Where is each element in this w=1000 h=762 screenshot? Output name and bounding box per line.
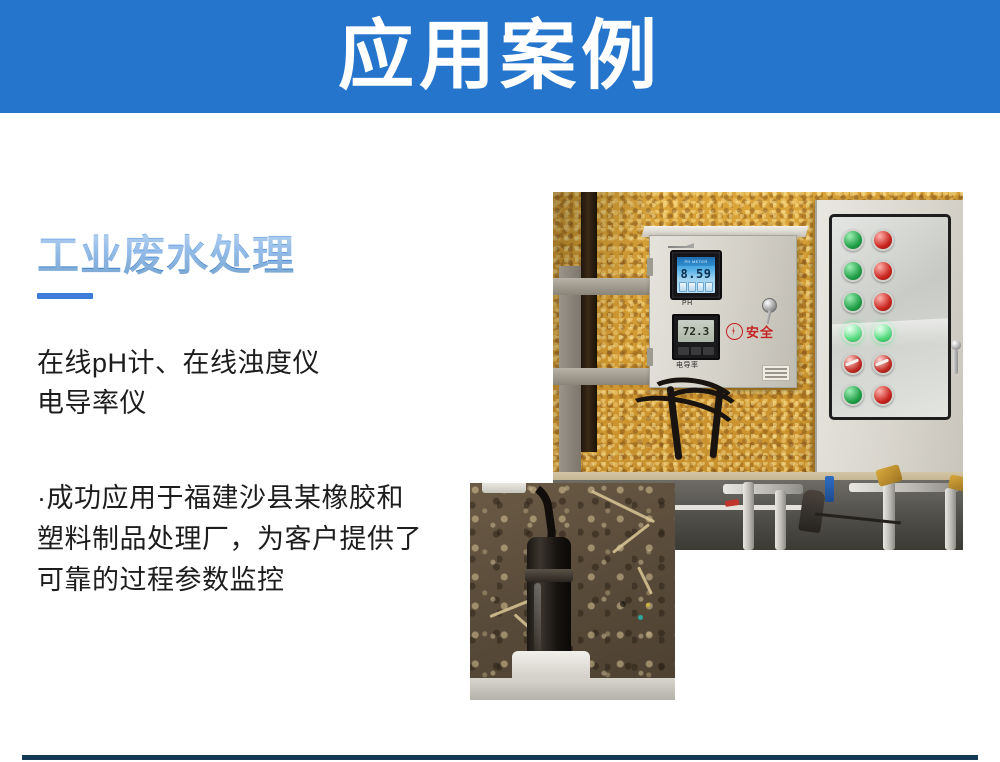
ph-meter-key: [679, 282, 687, 292]
cabinet-right: [815, 200, 963, 500]
photo-probe-inset: [470, 483, 675, 700]
ph-meter-screen: PH METER 8.59: [677, 257, 715, 293]
content-text-column: 工业废水处理 在线pH计、在线浊度仪电导率仪 ·成功应用于福建沙县某橡胶和塑料制…: [37, 232, 437, 299]
ph-meter-key: [705, 282, 713, 292]
conductivity-meter-key: [691, 347, 702, 355]
sticker-line: [765, 368, 787, 370]
horizontal-pipe: [723, 484, 803, 494]
debris-speck: [646, 603, 650, 607]
lead-text: 在线pH计、在线浊度仪电导率仪: [37, 344, 437, 424]
wall-conduit: [581, 192, 597, 452]
sticker-line: [765, 376, 787, 378]
conductivity-meter-keypad: [678, 347, 714, 355]
cabinet-window: [829, 214, 951, 420]
horizontal-pipe: [849, 483, 959, 492]
indicator-lamp-red: [872, 291, 894, 313]
probe-highlight: [534, 583, 541, 651]
ph-meter-keypad: [679, 282, 713, 292]
vertical-pipe: [883, 478, 895, 550]
vertical-pipe: [743, 482, 754, 550]
cabinet-spec-sticker: [762, 365, 790, 381]
vertical-pipe: [945, 488, 956, 550]
hinge-icon: [647, 348, 653, 366]
conductivity-meter-screen: 72.3: [678, 320, 714, 342]
section-heading: 工业废水处理: [37, 232, 437, 279]
indicator-lamp-red: [872, 229, 894, 251]
safety-warning-text: 安全: [746, 322, 774, 341]
conductivity-meter-label: 电导率: [676, 360, 699, 370]
conductivity-meter-key: [678, 347, 689, 355]
blue-valve-handle: [825, 476, 834, 502]
bullet-text: ·成功应用于福建沙县某橡胶和塑料制品处理厂，为客户提供了可靠的过程参数监控: [37, 478, 437, 601]
indicator-lamp-red: [872, 260, 894, 282]
ph-meter-key: [688, 282, 696, 292]
debris-speck: [620, 601, 626, 607]
ph-meter-label: PH: [682, 300, 693, 307]
debris-speck: [638, 615, 643, 620]
selector-knob: [872, 353, 894, 375]
indicator-lamp-green: [842, 291, 864, 313]
ph-meter: PH METER 8.59: [670, 250, 722, 300]
vertical-pipe: [775, 490, 786, 550]
indicator-lamp-red: [872, 384, 894, 406]
conductivity-meter-key: [703, 347, 714, 355]
lightning-bolt-icon: [726, 323, 743, 340]
indicator-lamp-green: [842, 260, 864, 282]
page-title: 应用案例: [0, 0, 1000, 113]
cabinet-handle-bar: [953, 350, 958, 374]
brand-logo: [668, 243, 694, 248]
heading-divider: [37, 293, 93, 299]
conductivity-meter: 72.3: [672, 314, 720, 360]
mount-base: [470, 678, 675, 700]
ph-meter-reading: 8.59: [677, 267, 715, 281]
hinge-icon: [647, 258, 653, 276]
ph-meter-key: [697, 282, 705, 292]
conductivity-meter-reading: 72.3: [678, 325, 714, 338]
header-banner: 应用案例: [0, 0, 1000, 113]
indicator-lamp-green: [842, 229, 864, 251]
safety-warning-sticker: 安全: [726, 322, 774, 341]
cabinet-handle-icon: [951, 340, 961, 350]
footer-rule: [22, 755, 978, 760]
selector-knob: [842, 353, 864, 375]
sticker-line: [765, 372, 787, 374]
indicator-lamp-green: [842, 384, 864, 406]
ph-meter-screen-header: PH METER: [677, 257, 715, 266]
cabinet-left: PH METER 8.59 PH 72.3 电导率: [649, 235, 797, 388]
probe-collar: [525, 569, 573, 582]
